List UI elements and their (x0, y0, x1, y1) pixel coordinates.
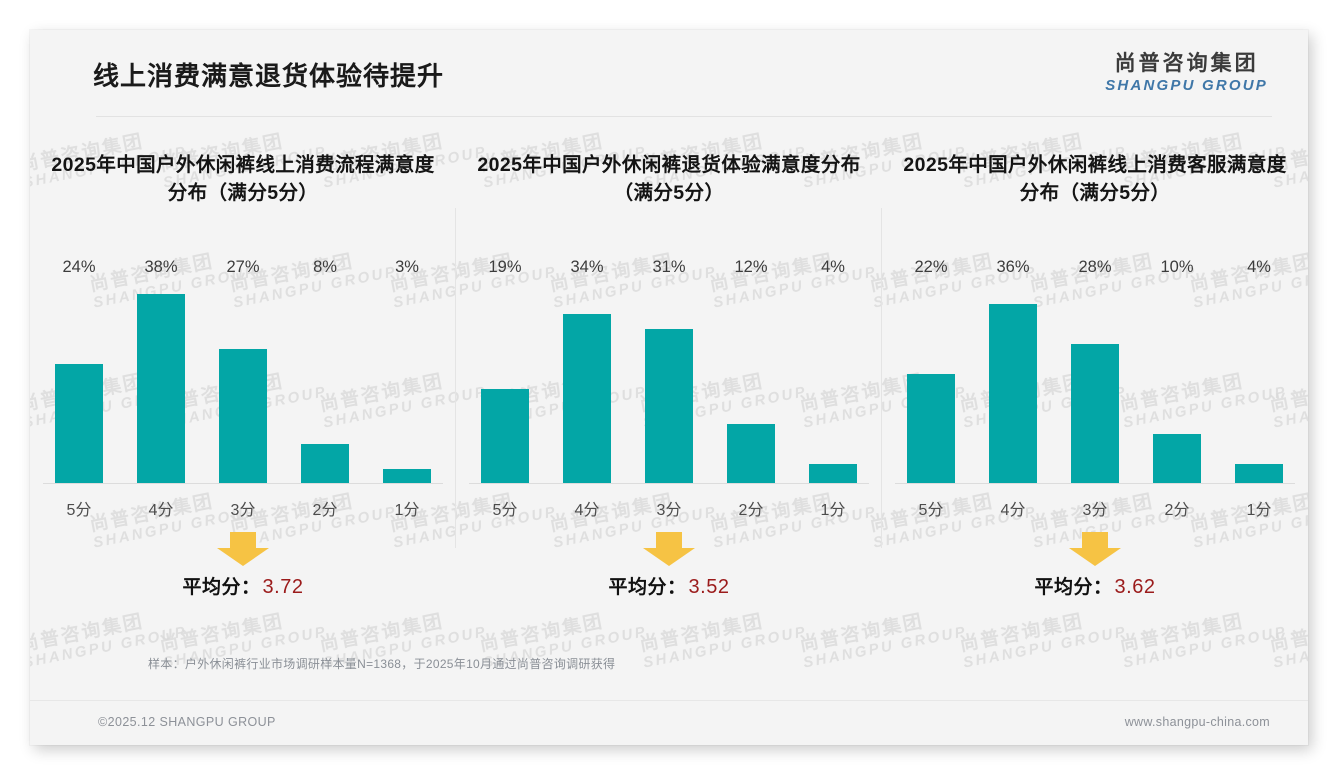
x-axis-tick-label: 1分 (383, 496, 431, 520)
bar-value-label: 28% (1078, 258, 1111, 277)
x-axis-tick-label: 3分 (645, 496, 693, 520)
x-axis-tick-label: 2分 (727, 496, 775, 520)
header-divider (96, 116, 1272, 117)
bar-value-label: 3% (395, 258, 419, 277)
bar-value-label: 22% (914, 258, 947, 277)
bar-value-label: 36% (996, 258, 1029, 277)
down-arrow-icon (643, 532, 695, 566)
average-callout: 平均分：3.72 (183, 532, 304, 599)
bar[interactable] (55, 364, 103, 484)
average-score-label: 平均分： (1035, 577, 1113, 598)
bar[interactable] (1235, 464, 1283, 484)
bar-value-label: 4% (821, 258, 845, 277)
bar-slot[interactable]: 4% (1235, 284, 1283, 484)
bar[interactable] (481, 389, 529, 484)
x-axis-tick-label: 4分 (989, 496, 1037, 520)
bar[interactable] (809, 464, 857, 484)
bar[interactable] (727, 424, 775, 484)
x-axis-tick-label: 5分 (481, 496, 529, 520)
bar-chart-plot: 24%38%27%8%3%5分4分3分2分1分 (43, 266, 443, 484)
x-axis-tick-label: 1分 (1235, 496, 1283, 520)
average-callout: 平均分：3.52 (609, 532, 730, 599)
footer-website[interactable]: www.shangpu-china.com (1125, 715, 1270, 729)
average-score-label: 平均分： (183, 577, 261, 598)
bar-group: 19%34%31%12%4% (469, 284, 869, 484)
x-axis-line (469, 483, 869, 484)
bar-slot[interactable]: 8% (301, 284, 349, 484)
average-score-value: 3.62 (1115, 576, 1156, 598)
slide-header: 线上消费满意退货体验待提升 尚普咨询集团 SHANGPU GROUP (30, 30, 1308, 112)
average-score-value: 3.72 (263, 576, 304, 598)
bar[interactable] (645, 329, 693, 484)
bar-slot[interactable]: 24% (55, 284, 103, 484)
brand-logo: 尚普咨询集团 SHANGPU GROUP (1105, 52, 1268, 95)
x-axis-tick-labels: 5分4分3分2分1分 (43, 496, 443, 520)
source-footnote: 样本：户外休闲裤行业市场调研样本量N=1368，于2025年10月通过尚普咨询调… (148, 655, 615, 672)
x-axis-tick-label: 1分 (809, 496, 857, 520)
bar-slot[interactable]: 19% (481, 284, 529, 484)
bar-value-label: 19% (488, 258, 521, 277)
x-axis-line (43, 483, 443, 484)
bar[interactable] (383, 469, 431, 484)
bar-chart-plot: 22%36%28%10%4%5分4分3分2分1分 (895, 266, 1295, 484)
bar-value-label: 12% (734, 258, 767, 277)
x-axis-tick-label: 5分 (55, 496, 103, 520)
chart-panel: 2025年中国户外休闲裤线上消费流程满意度分布（满分5分）24%38%27%8%… (30, 134, 456, 644)
bar-slot[interactable]: 28% (1071, 284, 1119, 484)
page-title: 线上消费满意退货体验待提升 (93, 56, 444, 93)
bar-chart-plot: 19%34%31%12%4%5分4分3分2分1分 (469, 266, 869, 484)
bar-slot[interactable]: 3% (383, 284, 431, 484)
chart-title: 2025年中国户外休闲裤线上消费客服满意度分布（满分5分） (902, 152, 1287, 208)
average-score: 平均分：3.52 (609, 572, 730, 599)
bar[interactable] (989, 304, 1037, 484)
bar[interactable] (301, 444, 349, 484)
bar[interactable] (137, 294, 185, 484)
slide-canvas: 尚普咨询集团SHANGPU GROUP尚普咨询集团SHANGPU GROUP尚普… (30, 30, 1308, 745)
bar-value-label: 8% (313, 258, 337, 277)
chart-panel: 2025年中国户外休闲裤线上消费客服满意度分布（满分5分）22%36%28%10… (882, 134, 1308, 644)
average-callout: 平均分：3.62 (1035, 532, 1156, 599)
bar[interactable] (219, 349, 267, 484)
bar[interactable] (907, 374, 955, 484)
down-arrow-icon (1069, 532, 1121, 566)
bar-value-label: 24% (62, 258, 95, 277)
bar-slot[interactable]: 10% (1153, 284, 1201, 484)
chart-title: 2025年中国户外休闲裤线上消费流程满意度分布（满分5分） (50, 152, 435, 208)
bar-value-label: 4% (1247, 258, 1271, 277)
bar-value-label: 27% (226, 258, 259, 277)
bar-slot[interactable]: 34% (563, 284, 611, 484)
bar-slot[interactable]: 27% (219, 284, 267, 484)
bar-group: 24%38%27%8%3% (43, 284, 443, 484)
down-arrow-icon (217, 532, 269, 566)
x-axis-tick-label: 4分 (563, 496, 611, 520)
logo-english-text: SHANGPU GROUP (1105, 77, 1268, 95)
bar-slot[interactable]: 22% (907, 284, 955, 484)
bar-slot[interactable]: 31% (645, 284, 693, 484)
bar-value-label: 31% (652, 258, 685, 277)
x-axis-tick-label: 5分 (907, 496, 955, 520)
x-axis-tick-label: 4分 (137, 496, 185, 520)
slide-footer: ©2025.12 SHANGPU GROUP www.shangpu-china… (30, 700, 1308, 745)
x-axis-tick-label: 3分 (219, 496, 267, 520)
bar-value-label: 38% (144, 258, 177, 277)
bar-slot[interactable]: 4% (809, 284, 857, 484)
bar[interactable] (563, 314, 611, 484)
bar-group: 22%36%28%10%4% (895, 284, 1295, 484)
footer-copyright: ©2025.12 SHANGPU GROUP (98, 715, 276, 729)
x-axis-tick-label: 2分 (301, 496, 349, 520)
x-axis-tick-label: 2分 (1153, 496, 1201, 520)
x-axis-line (895, 483, 1295, 484)
x-axis-tick-label: 3分 (1071, 496, 1119, 520)
average-score: 平均分：3.62 (1035, 572, 1156, 599)
average-score-label: 平均分： (609, 577, 687, 598)
bar-slot[interactable]: 36% (989, 284, 1037, 484)
chart-title: 2025年中国户外休闲裤退货体验满意度分布（满分5分） (476, 152, 861, 208)
logo-chinese-text: 尚普咨询集团 (1105, 52, 1268, 76)
chart-panel: 2025年中国户外休闲裤退货体验满意度分布（满分5分）19%34%31%12%4… (456, 134, 882, 644)
bar-value-label: 34% (570, 258, 603, 277)
charts-container: 2025年中国户外休闲裤线上消费流程满意度分布（满分5分）24%38%27%8%… (30, 134, 1308, 644)
bar-slot[interactable]: 38% (137, 284, 185, 484)
bar-slot[interactable]: 12% (727, 284, 775, 484)
x-axis-tick-labels: 5分4分3分2分1分 (469, 496, 869, 520)
bar-value-label: 10% (1160, 258, 1193, 277)
bar[interactable] (1153, 434, 1201, 484)
average-score-value: 3.52 (689, 576, 730, 598)
x-axis-tick-labels: 5分4分3分2分1分 (895, 496, 1295, 520)
bar[interactable] (1071, 344, 1119, 484)
average-score: 平均分：3.72 (183, 572, 304, 599)
